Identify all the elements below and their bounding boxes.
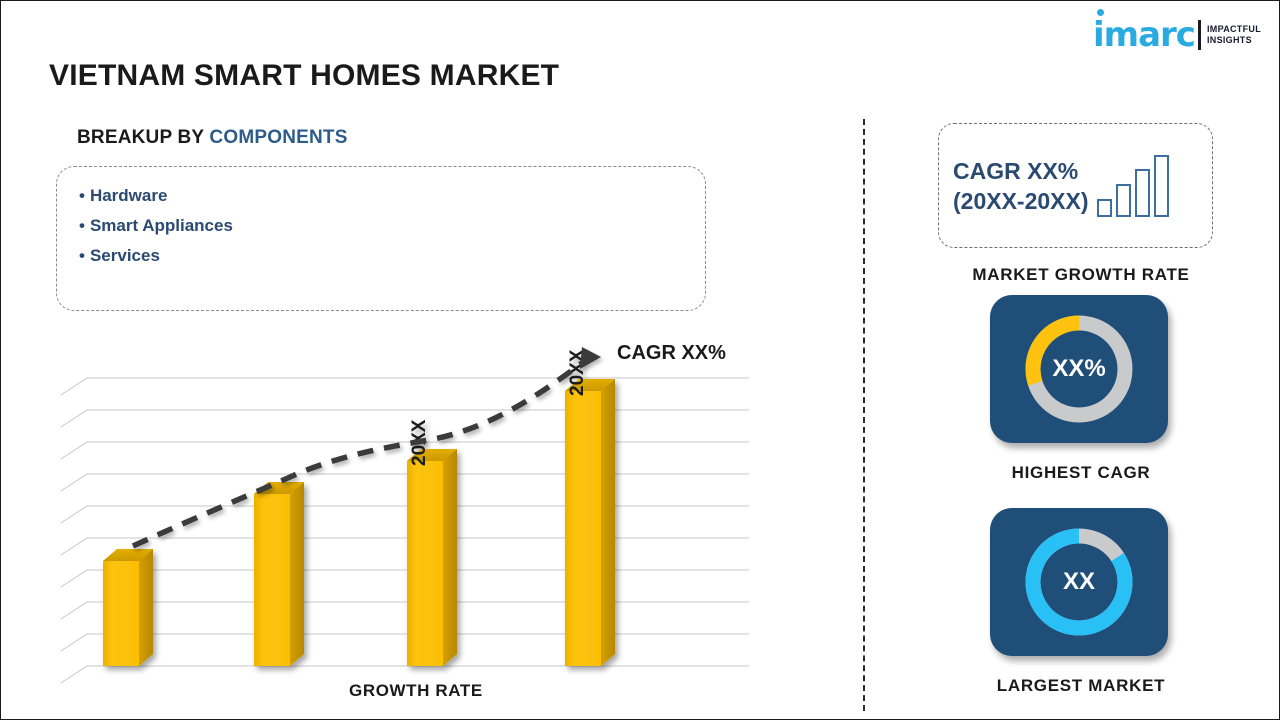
largest-market-card: XX <box>990 508 1168 656</box>
bullet-icon: • <box>79 186 85 205</box>
list-item: •Smart Appliances <box>79 211 705 241</box>
bar-1 <box>103 549 153 666</box>
section-heading-prefix: BREAKUP BY <box>77 127 209 148</box>
list-item: •Hardware <box>79 181 705 211</box>
market-growth-rate-box: CAGR XX% (20XX-20XX) <box>938 123 1213 248</box>
logo-tagline-line1: IMPACTFUL <box>1207 24 1261 35</box>
logo-wordmark: imarc <box>1093 18 1195 52</box>
bar-4: 20XX <box>565 349 615 666</box>
cagr-value: CAGR XX% <box>953 156 1089 186</box>
highest-cagr-caption: HIGHEST CAGR <box>901 463 1261 483</box>
logo-tagline: IMPACTFUL INSIGHTS <box>1207 24 1261 46</box>
chart-x-axis-label: GROWTH RATE <box>349 681 483 701</box>
largest-market-caption: LARGEST MARKET <box>901 676 1261 696</box>
bar-chart-icon <box>1097 155 1169 217</box>
list-item-label: Hardware <box>90 186 167 205</box>
list-item-label: Smart Appliances <box>90 216 233 235</box>
list-item: •Services <box>79 241 705 271</box>
chart-svg: 20XX 20XX <box>49 331 749 691</box>
market-growth-rate-caption: MARKET GROWTH RATE <box>901 265 1261 285</box>
bullet-icon: • <box>79 216 85 235</box>
logo-dot-icon <box>1097 9 1104 16</box>
list-item-label: Services <box>90 246 160 265</box>
bar-3: 20XX <box>407 419 457 666</box>
bar-2 <box>254 482 304 666</box>
logo-divider <box>1198 20 1201 50</box>
bullet-icon: • <box>79 246 85 265</box>
components-list-box: •Hardware •Smart Appliances •Services <box>56 166 706 311</box>
section-heading: BREAKUP BY COMPONENTS <box>77 127 348 149</box>
largest-market-value: XX <box>990 508 1168 656</box>
chart-trend-annotation: CAGR XX% <box>617 342 726 365</box>
logo-word-text: imarc <box>1093 15 1195 55</box>
cagr-text: CAGR XX% (20XX-20XX) <box>953 156 1089 216</box>
slide-canvas: imarc IMPACTFUL INSIGHTS VIETNAM SMART H… <box>0 0 1280 720</box>
growth-rate-bar-chart: 20XX 20XX <box>49 331 749 691</box>
panel-divider <box>863 119 865 711</box>
trend-line <box>133 347 601 546</box>
imarc-logo: imarc IMPACTFUL INSIGHTS <box>1093 15 1261 55</box>
logo-tagline-line2: INSIGHTS <box>1207 35 1261 46</box>
cagr-period: (20XX-20XX) <box>953 186 1089 216</box>
highest-cagr-value: XX% <box>990 295 1168 443</box>
section-heading-highlight: COMPONENTS <box>209 127 347 148</box>
page-title: VIETNAM SMART HOMES MARKET <box>49 59 559 93</box>
highest-cagr-card: XX% <box>990 295 1168 443</box>
trend-arrow-icon <box>580 347 601 369</box>
